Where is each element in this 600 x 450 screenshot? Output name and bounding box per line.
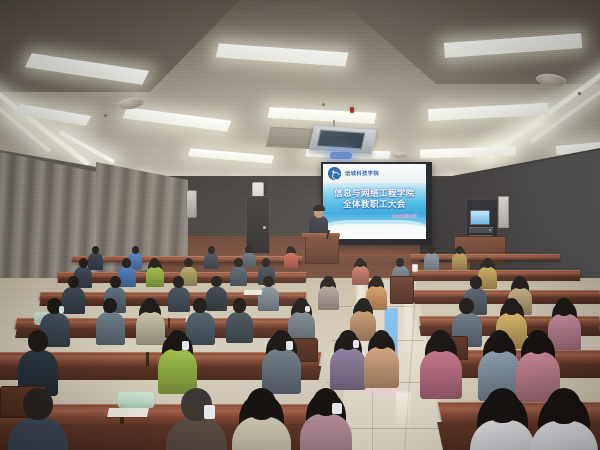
attendee-torso (364, 347, 399, 388)
rack-monitor (470, 210, 490, 225)
ceiling-speaker-icon (392, 152, 408, 158)
attendee-head (79, 258, 88, 268)
attendee-head (103, 298, 117, 313)
attendee (8, 388, 68, 450)
attendee-head (556, 298, 572, 316)
attendee-head (428, 246, 435, 254)
plastic-bag (118, 392, 154, 408)
face-mask (59, 306, 64, 313)
floor-light-reflection (396, 392, 410, 432)
slide-title-line1: 信息与网络工程学院 (323, 188, 426, 199)
paper-sheet (243, 290, 262, 295)
attendee-head (211, 276, 222, 287)
attendee-head (486, 388, 519, 423)
attendee-head (68, 276, 79, 288)
paper-sheet (107, 408, 149, 417)
attendee-torso (8, 418, 68, 450)
attendee-head (430, 330, 451, 352)
face-mask (305, 306, 310, 312)
attendee-torso (318, 286, 339, 310)
attendee-head (132, 246, 139, 254)
attendee-head (247, 388, 276, 420)
attendee (146, 258, 164, 288)
slide-organization-name: 运城科技学院 (345, 170, 379, 177)
disposable-cup (412, 264, 418, 272)
ceiling-sensor-icon (578, 92, 581, 95)
attendee (318, 276, 339, 311)
attendee (330, 330, 366, 392)
slide-title-line2: 全体教职工大会 (323, 199, 426, 210)
attendee (166, 388, 227, 450)
university-crest-logo (328, 167, 341, 180)
attendee-head (173, 276, 184, 288)
desk-seam (146, 352, 149, 366)
face-mask (286, 341, 293, 350)
attendee (530, 388, 598, 450)
lectern-top (302, 233, 340, 237)
door-handle-icon[interactable] (263, 226, 266, 229)
attendee-torso (232, 417, 291, 450)
attendee-head (233, 298, 247, 313)
attendee-head (371, 276, 381, 287)
attendee (158, 330, 197, 396)
slide-title: 信息与网络工程学院 全体教职工大会 (323, 188, 426, 209)
attendee-torso (300, 414, 352, 450)
attendee (300, 388, 352, 450)
attendee-torso (420, 351, 462, 399)
face-mask (332, 403, 341, 415)
rack-status-led (489, 229, 491, 231)
lecture-hall-photo: 运城科技学院 信息与网络工程学院 全体教职工大会 2022年9月 (0, 0, 600, 450)
attendee-head (193, 298, 207, 313)
attendee (364, 330, 399, 389)
attendee-head (208, 246, 215, 254)
attendee-torso (424, 253, 439, 270)
projector-lens-icon (317, 129, 366, 149)
attendee-head (110, 276, 121, 288)
attendee (424, 246, 439, 271)
attendee-head (234, 258, 243, 267)
attendee-head (514, 276, 526, 289)
wall-speaker-icon (498, 196, 509, 228)
attendee-torso (330, 348, 366, 390)
attendee-torso (284, 253, 298, 269)
attendee-head (263, 276, 274, 287)
attendee-torso (96, 312, 125, 345)
attendee-head (184, 258, 193, 267)
wall-speaker-icon (186, 190, 197, 218)
attendee-head (92, 246, 99, 254)
attendee (284, 246, 298, 269)
attendee-head (28, 330, 48, 352)
attendee-torso (146, 267, 164, 287)
presenter-hair (313, 205, 325, 211)
attendee-head (527, 330, 549, 354)
attendee (204, 246, 218, 270)
attendee (96, 298, 125, 346)
attendee-head (483, 258, 492, 268)
face-mask (353, 340, 360, 348)
attendee-torso (230, 267, 247, 287)
attendee-head (470, 276, 482, 289)
face-mask (204, 405, 215, 419)
empty-chair (390, 276, 414, 304)
attendee-torso (226, 312, 253, 344)
attendee (262, 330, 301, 396)
lectern (305, 236, 339, 264)
attendee-head (323, 276, 333, 287)
attendee-head (504, 298, 520, 315)
attendee-head (122, 258, 131, 268)
ceiling-sensor-icon (104, 114, 107, 117)
attendee-head (150, 258, 159, 268)
ceiling-sensor-icon (322, 103, 325, 106)
projection-screen: 运城科技学院 信息与网络工程学院 全体教职工大会 2022年9月 (323, 164, 426, 239)
desk-seam (168, 318, 170, 328)
attendee (452, 246, 467, 272)
sprinkler-head-icon (350, 107, 354, 113)
attendee-torso (166, 418, 227, 450)
attendee (470, 388, 535, 450)
attendee-head (459, 298, 474, 314)
attendee-head (489, 330, 510, 353)
attendee-head (23, 388, 53, 420)
attendee-torso (204, 253, 218, 269)
attendee-head (373, 330, 391, 349)
attendee (232, 388, 291, 450)
attendee-head (357, 298, 370, 312)
attendee-torso (452, 253, 467, 270)
projector-beam-glow (330, 152, 352, 159)
attendee (230, 258, 247, 287)
attendee-head (547, 388, 581, 424)
attendee (226, 298, 253, 344)
face-mask (182, 341, 189, 350)
attendee (420, 330, 462, 400)
